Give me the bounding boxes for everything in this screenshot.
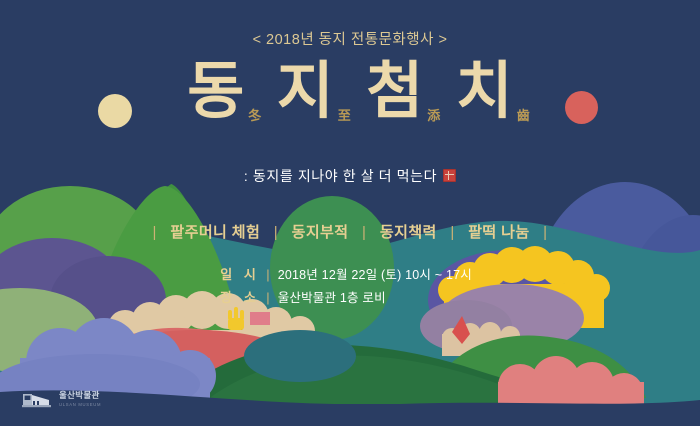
program-separator-1: |	[274, 224, 278, 241]
logo-name-en: ULSAN MUSEUM	[59, 402, 101, 407]
title-hanja-4: 齒	[517, 110, 530, 123]
title-unit-1: 동 冬	[187, 62, 244, 121]
detail-value-venue: 울산박물관 1층 로비	[278, 287, 480, 306]
detail-row-datetime: 일 시 | 2018년 12월 22일 (토) 10시 ~ 17시	[0, 264, 700, 283]
poster-canvas: < 2018년 동지 전통문화행사 > 동 冬 지 至 첨 添 치 齒 : 동지…	[0, 0, 700, 426]
detail-value-datetime: 2018년 12월 22일 (토) 10시 ~ 17시	[278, 264, 480, 283]
title-syllable-1: 동	[187, 62, 244, 121]
title-syllable-4: 치	[456, 62, 513, 121]
title-syllable-2: 지	[277, 62, 334, 121]
title-hanja-2: 至	[338, 110, 351, 123]
detail-label-venue: 장 소	[220, 287, 266, 306]
title-unit-3: 첨 添	[366, 62, 423, 121]
program-item-2: 동지부적	[292, 224, 349, 241]
title-hanja-3: 添	[427, 110, 440, 123]
museum-building-icon	[22, 389, 52, 409]
program-separator-3: |	[450, 224, 454, 241]
program-list: | 팥주머니 체험 | 동지부적 | 동지책력 | 팥떡 나눔 |	[0, 221, 700, 242]
program-separator-4: |	[543, 224, 547, 241]
title-unit-2: 지 至	[277, 62, 334, 121]
museum-logo: 울산박물관 ULSAN MUSEUM	[22, 389, 101, 409]
program-item-3: 동지책력	[380, 224, 437, 241]
logo-text-group: 울산박물관 ULSAN MUSEUM	[59, 391, 101, 406]
main-title: 동 冬 지 至 첨 添 치 齒	[0, 62, 700, 121]
title-syllable-3: 첨	[366, 62, 423, 121]
red-seal-icon	[443, 169, 456, 182]
logo-name-ko: 울산박물관	[59, 391, 101, 400]
title-unit-4: 치 齒	[456, 62, 513, 121]
detail-bar-venue: |	[266, 290, 269, 305]
detail-row-venue: 장 소 | 울산박물관 1층 로비	[0, 287, 700, 306]
event-kicker: < 2018년 동지 전통문화행사 >	[0, 28, 700, 49]
detail-bar-datetime: |	[266, 267, 269, 282]
text-layer: < 2018년 동지 전통문화행사 > 동 冬 지 至 첨 添 치 齒 : 동지…	[0, 0, 700, 426]
subtitle-text: : 동지를 지나야 한 살 더 먹는다	[244, 168, 437, 184]
title-hanja-1: 冬	[248, 110, 261, 123]
subtitle-line: : 동지를 지나야 한 살 더 먹는다	[0, 166, 700, 186]
program-separator-0: |	[153, 224, 157, 241]
program-item-4: 팥떡 나눔	[468, 224, 529, 241]
detail-label-datetime: 일 시	[220, 264, 266, 283]
program-separator-2: |	[362, 224, 366, 241]
program-item-1: 팥주머니 체험	[170, 224, 260, 241]
event-details: 일 시 | 2018년 12월 22일 (토) 10시 ~ 17시 장 소 | …	[0, 264, 700, 310]
